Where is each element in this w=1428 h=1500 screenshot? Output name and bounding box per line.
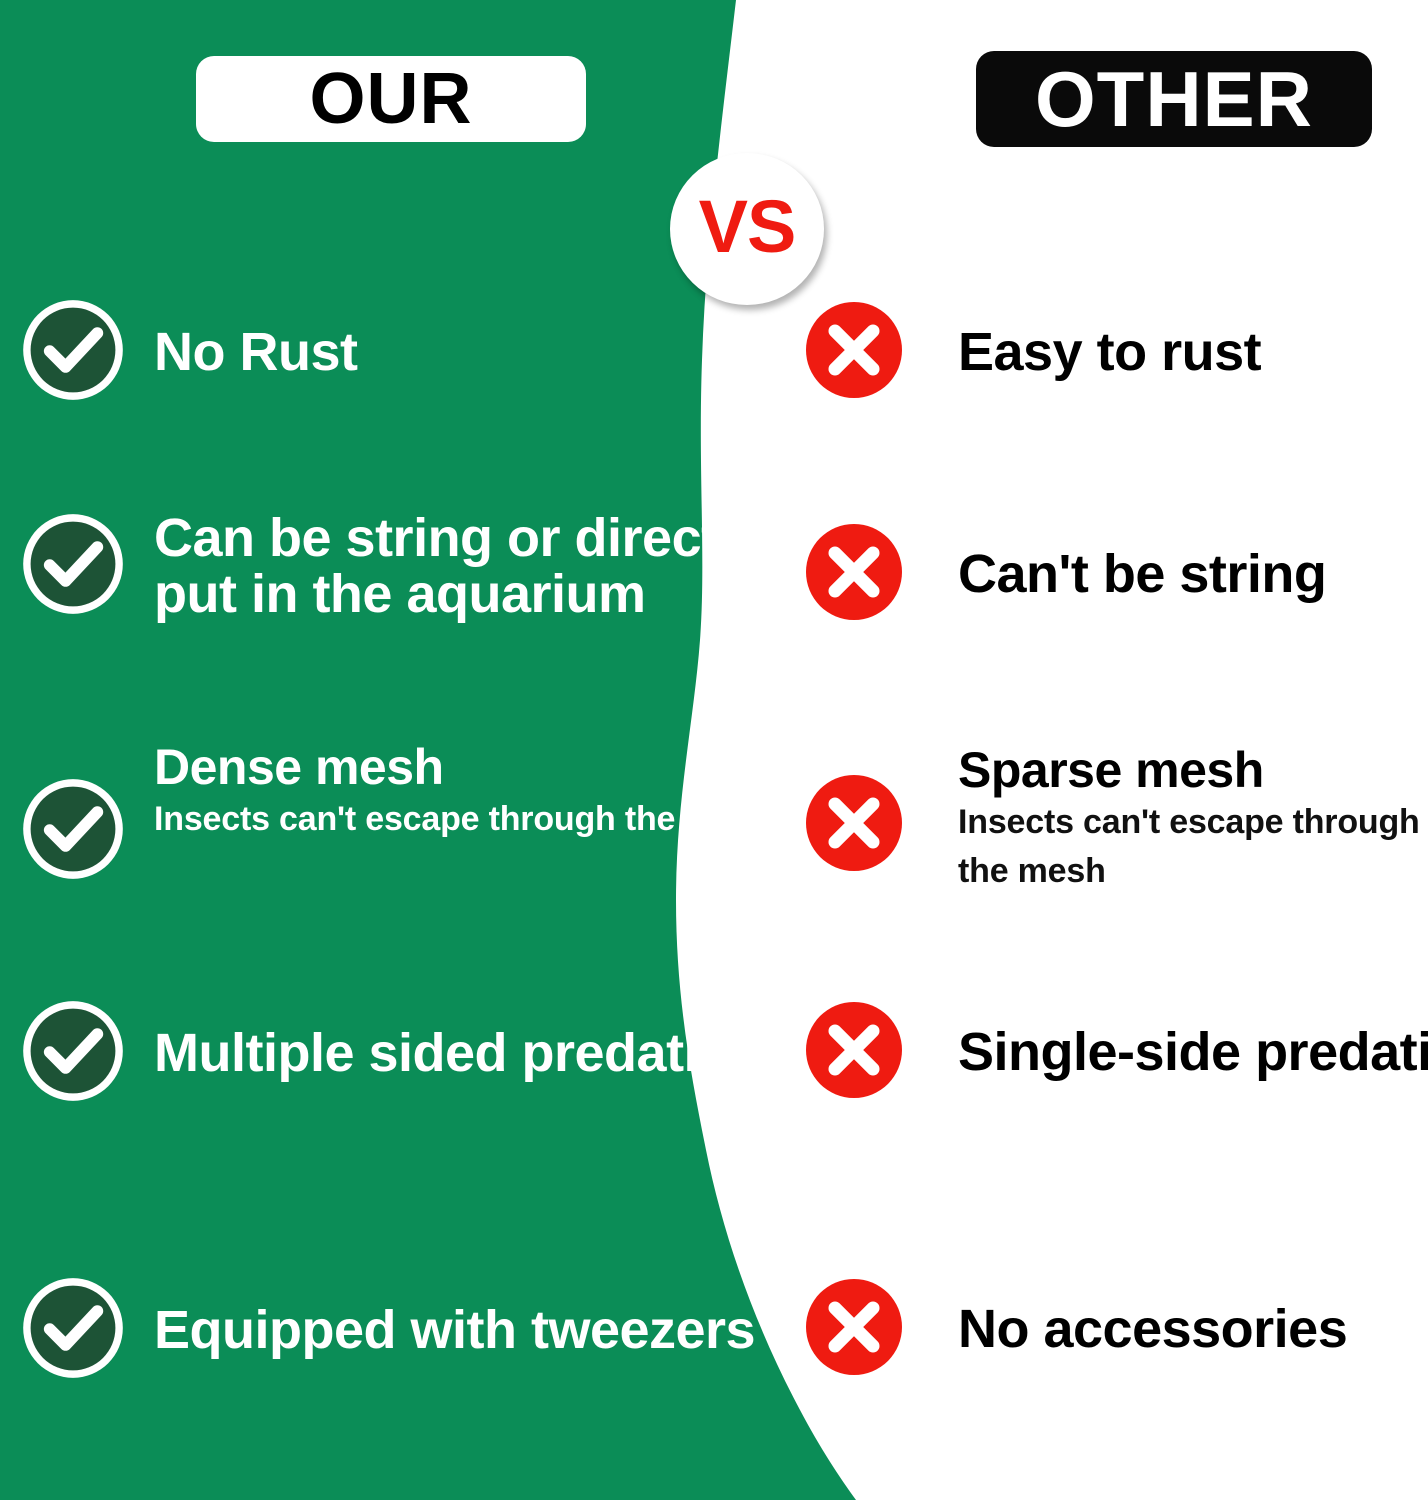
check-circle-icon: [20, 998, 126, 1109]
our-row-1-headline: No Rust: [154, 325, 357, 380]
cross-circle-icon: [804, 300, 904, 405]
other-row-3: Sparse mesh Insects can't escape through…: [804, 745, 1428, 897]
other-row-4: Single-side predation: [804, 1000, 1428, 1105]
other-row-3-headline: Sparse mesh: [958, 745, 1428, 796]
our-row-1: No Rust: [20, 297, 357, 408]
other-row-1-headline: Easy to rust: [958, 325, 1261, 380]
check-circle-icon: [20, 511, 126, 622]
check-circle-icon: [20, 1275, 126, 1386]
our-badge: OUR: [196, 56, 586, 142]
our-row-5-headline: Equipped with tweezers: [154, 1303, 755, 1358]
comparison-infographic: OUR OTHER VS No Rust Can be str: [0, 0, 1428, 1500]
vs-badge: VS: [670, 153, 824, 305]
other-row-5: No accessories: [804, 1277, 1347, 1382]
cross-circle-icon: [804, 522, 904, 627]
our-row-5: Equipped with tweezers: [20, 1275, 755, 1386]
our-row-4: Multiple sided predation: [20, 998, 763, 1109]
our-label: OUR: [310, 58, 473, 140]
other-row-2-headline: Can't be string: [958, 547, 1326, 602]
our-row-3: Dense mesh Insects can't escape through …: [20, 742, 773, 887]
cross-circle-icon: [804, 1000, 904, 1105]
other-row-4-headline: Single-side predation: [958, 1025, 1428, 1080]
cross-circle-icon: [804, 773, 904, 878]
our-row-3-headline: Dense mesh: [154, 742, 773, 793]
other-badge: OTHER: [976, 51, 1372, 147]
check-circle-icon: [20, 776, 126, 887]
other-row-1: Easy to rust: [804, 300, 1261, 405]
our-row-4-headline: Multiple sided predation: [154, 1026, 763, 1081]
our-row-3-sub: Insects can't escape through the mesh: [154, 795, 773, 844]
other-row-2: Can't be string: [804, 522, 1326, 627]
our-row-2-headline: Can be string or directly put in the aqu…: [154, 510, 763, 622]
vs-label: VS: [699, 190, 796, 264]
cross-circle-icon: [804, 1277, 904, 1382]
other-row-3-sub: Insects can't escape through the mesh: [958, 798, 1428, 897]
check-circle-icon: [20, 297, 126, 408]
other-label: OTHER: [1035, 54, 1313, 145]
other-row-5-headline: No accessories: [958, 1302, 1347, 1357]
our-row-2: Can be string or directly put in the aqu…: [20, 510, 763, 622]
